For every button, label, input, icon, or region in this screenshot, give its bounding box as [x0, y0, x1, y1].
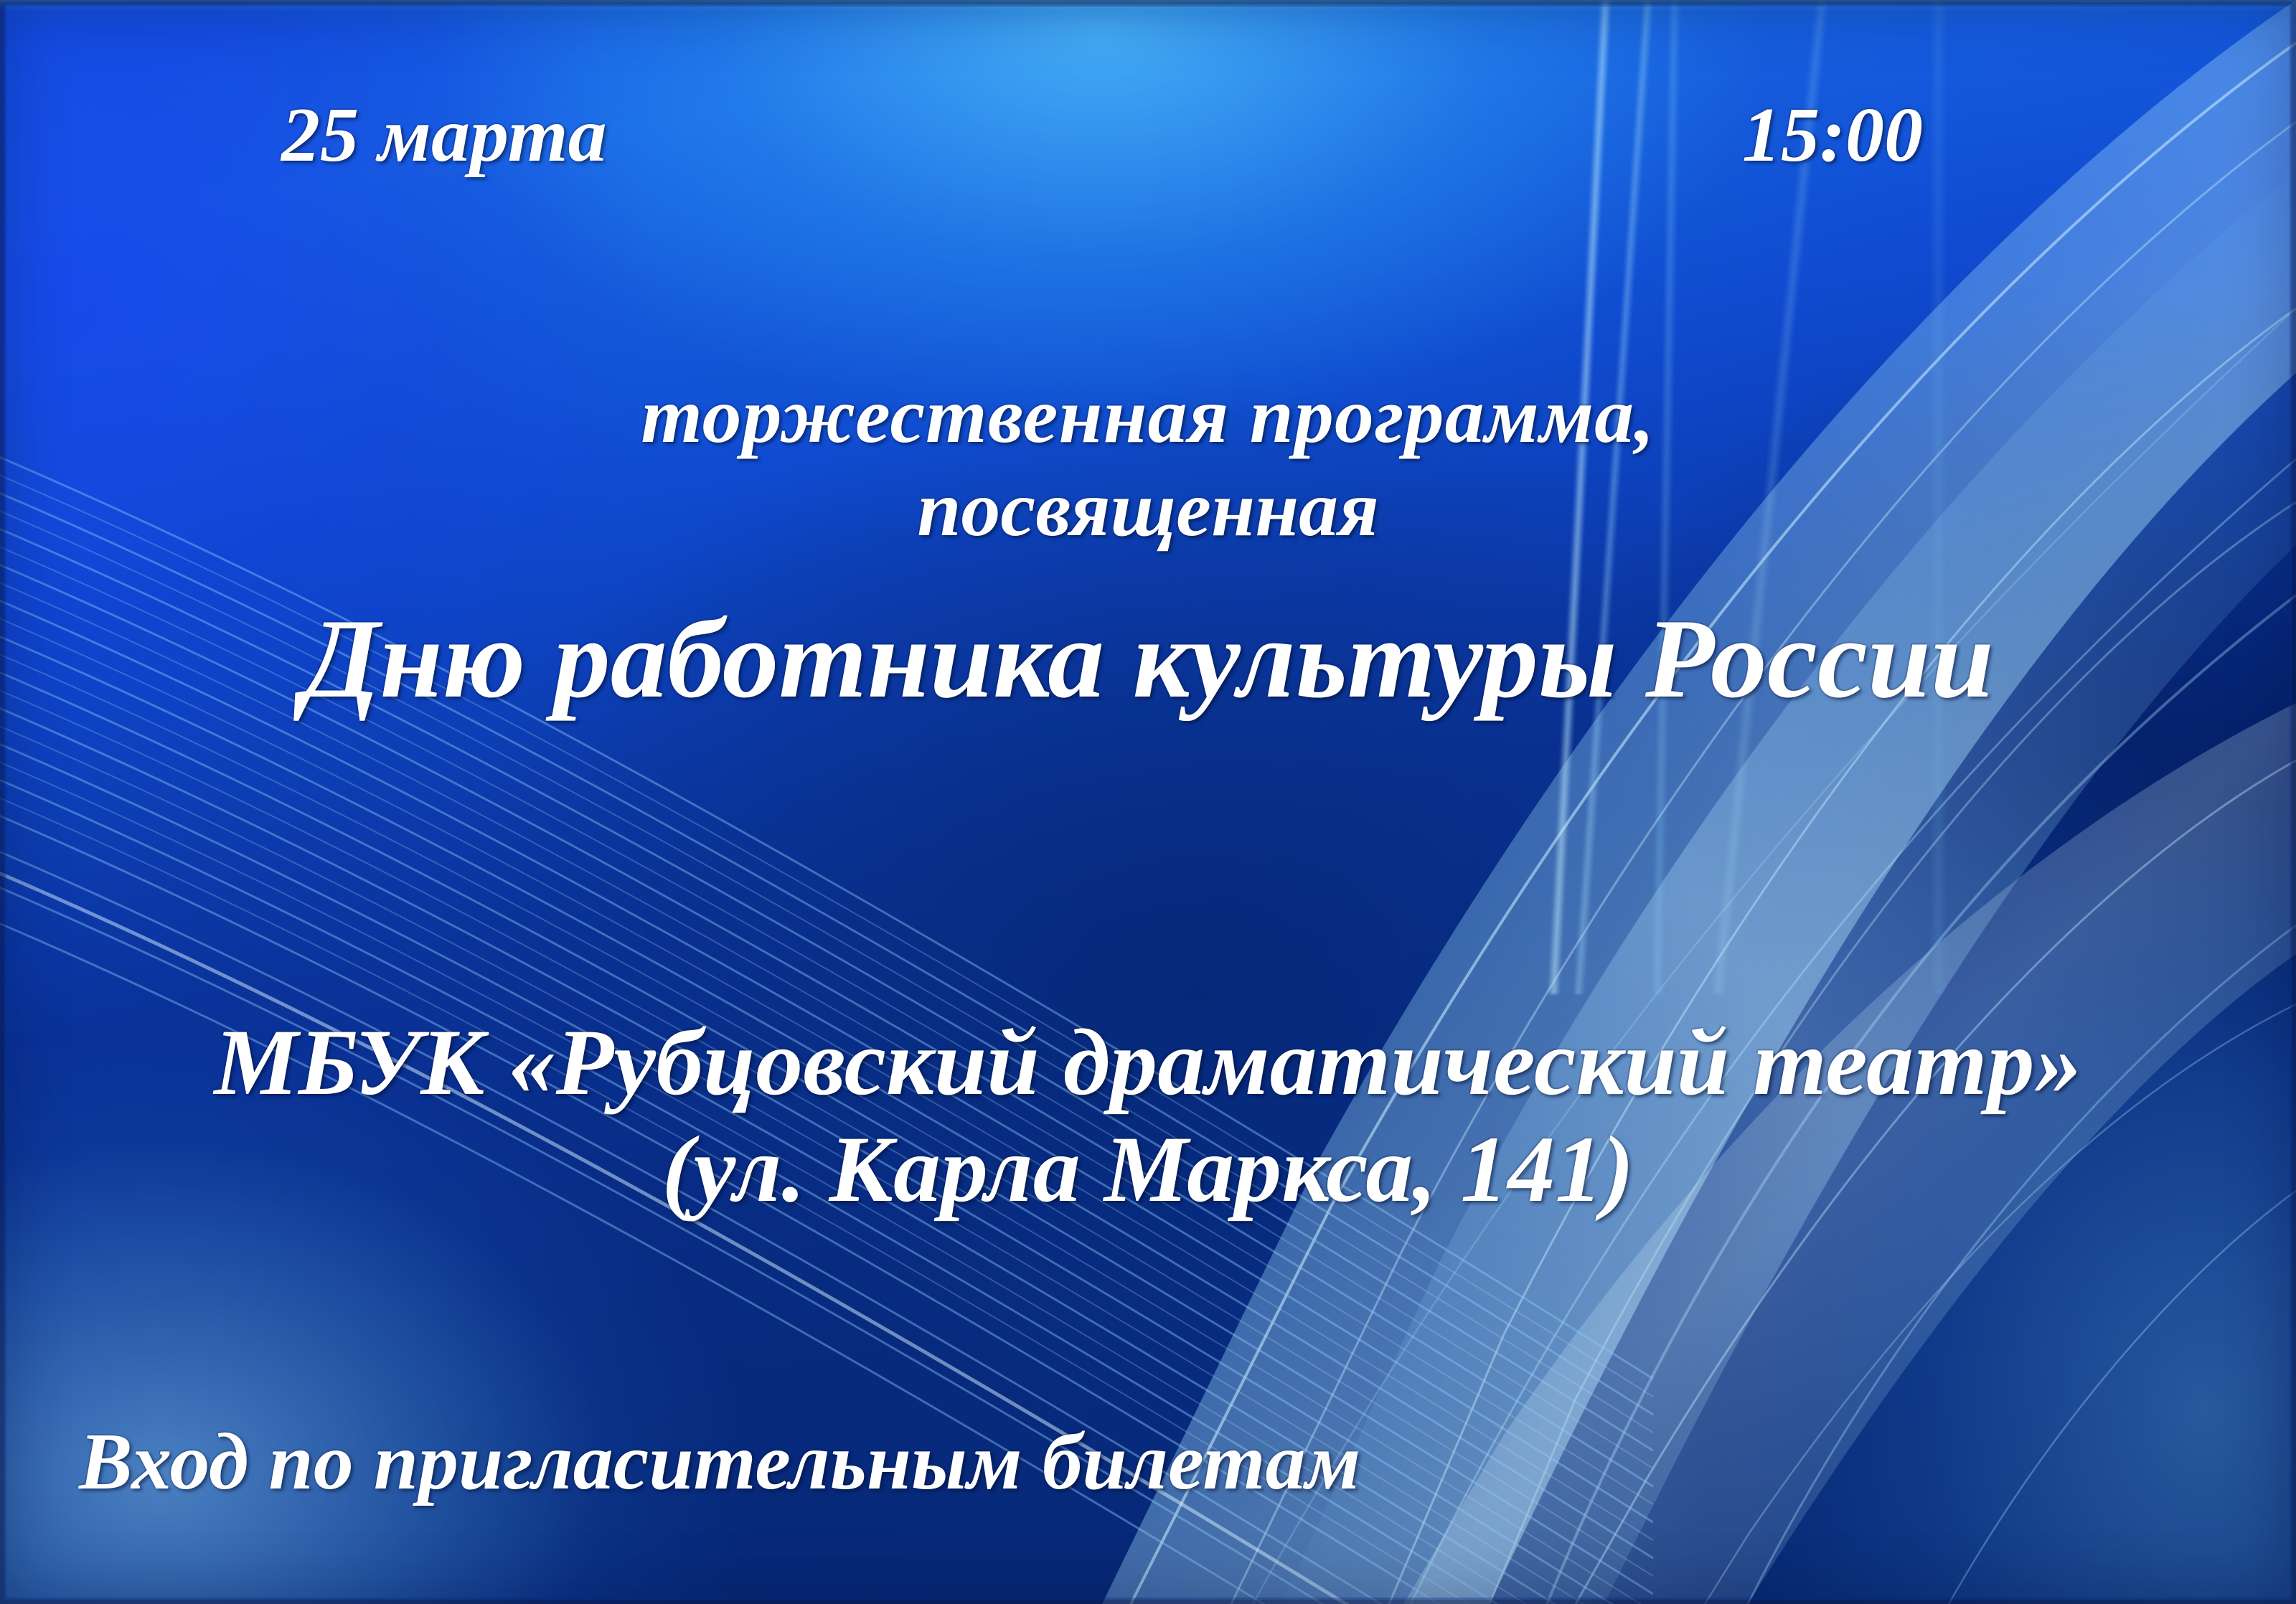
page-title: Дню работника культуры России: [0, 600, 2296, 719]
top-edge-band: [0, 0, 2296, 1604]
venue-block: МБУК «Рубцовский драматический театр» (у…: [0, 1013, 2296, 1219]
event-date: 25 марта: [281, 95, 607, 176]
light-ribbons-decoration: [1102, 0, 2296, 1604]
lower-right-glow: [0, 0, 2296, 1604]
program-subtitle-line-1: торжественная программа,: [0, 374, 2296, 458]
venue-name: МБУК «Рубцовский драматический театр»: [0, 1013, 2296, 1113]
event-poster: 25 марта 15:00 торжественная программа, …: [0, 0, 2296, 1604]
background-gradient: [0, 0, 2296, 1604]
program-subtitle-line-2: посвященная: [0, 468, 2296, 551]
venue-address: (ул. Карла Маркса, 141): [0, 1120, 2296, 1219]
poster-frame: [0, 0, 2296, 1604]
entry-condition-note: Вход по пригласительным билетам: [79, 1420, 1360, 1505]
headline-block: Дню работника культуры России: [0, 600, 2296, 719]
program-subtitle-block: торжественная программа, посвященная: [0, 374, 2296, 550]
lower-left-glow: [0, 0, 2296, 1604]
event-time: 15:00: [1742, 95, 1923, 176]
